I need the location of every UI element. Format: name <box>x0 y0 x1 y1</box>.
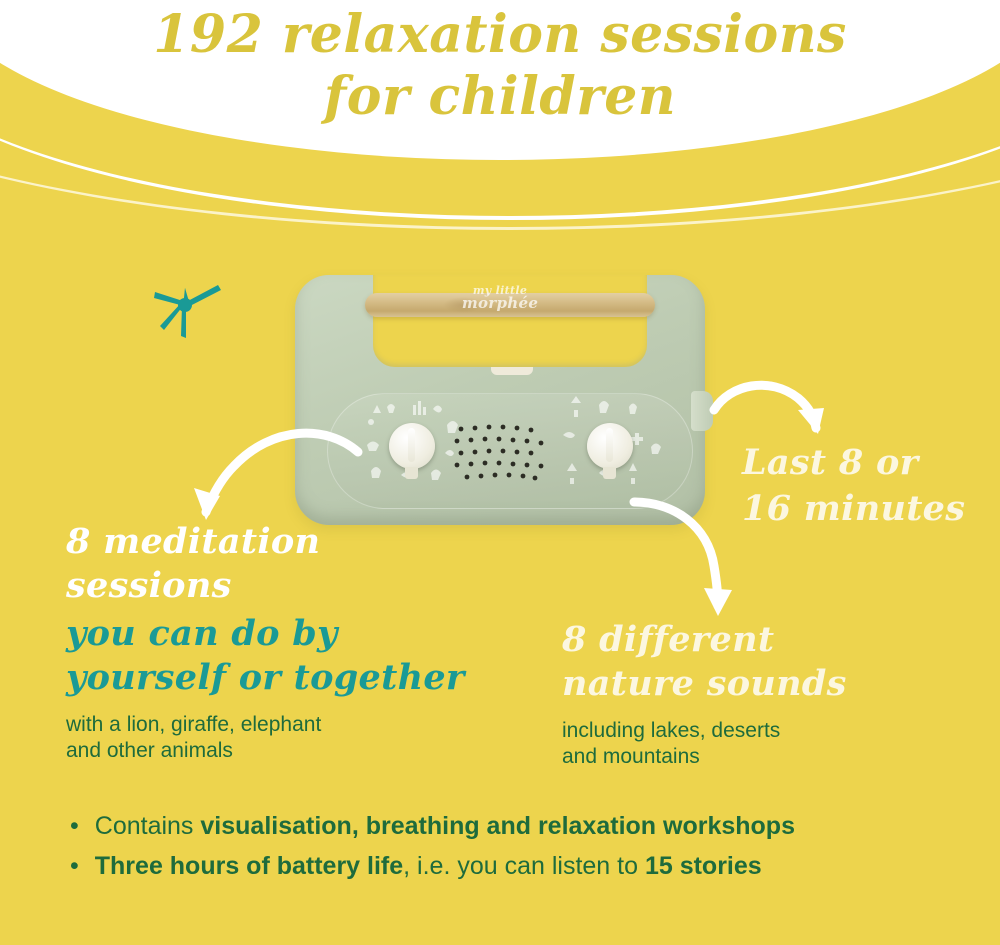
callout-nature-subtext: including lakes, deserts and mountains <box>562 718 892 770</box>
list-item: •Contains visualisation, breathing and r… <box>70 806 980 846</box>
callout-left-teal-line-1: you can do by <box>66 612 486 656</box>
headline-line-1: 192 relaxation sessions <box>153 4 847 65</box>
callout-left-sub-line-2: and other animals <box>66 738 486 764</box>
callout-nature-headline: 8 different nature sounds <box>562 618 892 706</box>
device-handle-opening <box>373 275 647 367</box>
list-item: •Three hours of battery life, i.e. you c… <box>70 846 980 886</box>
callout-nature-line-1: 8 different <box>562 618 892 662</box>
headline-line-2: for children <box>0 66 1000 128</box>
feature-bullet-list: •Contains visualisation, breathing and r… <box>70 806 980 886</box>
bullet-text: Contains <box>95 812 201 840</box>
bullet-text-bold: Three hours of battery life <box>95 852 403 880</box>
bullet-text-bold: 15 stories <box>645 852 762 880</box>
callout-left-subtext: with a lion, giraffe, elephant and other… <box>66 712 486 764</box>
curved-arrow-down-icon <box>622 482 752 635</box>
wooden-handle <box>365 293 655 317</box>
callout-left-headline-teal: you can do by yourself or together <box>66 612 486 700</box>
bullet-marker: • <box>70 812 79 840</box>
curved-arrow-down-left-icon <box>186 418 366 535</box>
star-icon <box>148 268 224 345</box>
callout-duration-line-1: Last 8 or <box>742 440 992 486</box>
nature-sounds-knob[interactable] <box>587 423 633 469</box>
star-speaker-grille <box>453 423 549 485</box>
callout-session-duration: Last 8 or 16 minutes <box>742 440 992 532</box>
callout-nature-sub-line-1: including lakes, deserts <box>562 718 892 744</box>
callout-nature-sounds: 8 different nature sounds including lake… <box>562 618 892 770</box>
callout-meditation-sessions: 8 meditation sessions you can do by your… <box>66 520 486 764</box>
bullet-text-bold: visualisation, breathing and relaxation … <box>200 812 795 840</box>
callout-duration-line-2: 16 minutes <box>742 486 992 532</box>
bullet-text: , i.e. you can listen to <box>403 852 645 880</box>
page-title: 192 relaxation sessions for children <box>0 4 1000 128</box>
callout-nature-line-2: nature sounds <box>562 662 892 706</box>
callout-left-headline-white: 8 meditation sessions <box>66 520 486 608</box>
callout-left-teal-line-2: yourself or together <box>66 656 486 700</box>
bullet-marker: • <box>70 852 79 880</box>
callout-left-sub-line-1: with a lion, giraffe, elephant <box>66 712 486 738</box>
animal-selector-knob[interactable] <box>389 423 435 469</box>
play-button[interactable] <box>491 367 533 375</box>
callout-nature-sub-line-2: and mountains <box>562 744 892 770</box>
